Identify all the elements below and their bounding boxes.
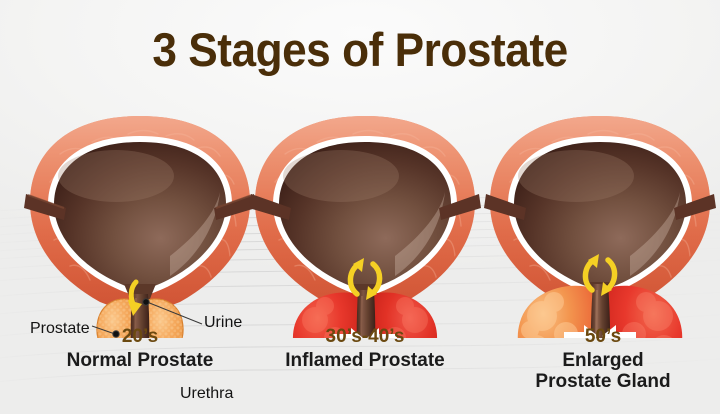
age-range-normal: 20’s: [15, 325, 265, 348]
prostate-diagram-enlarged: [480, 98, 720, 338]
age-range-inflamed: 30’s-40’s: [240, 325, 490, 348]
stage-label-inflamed: Inflamed Prostate: [240, 350, 490, 371]
bladder-inflamed: [249, 116, 481, 312]
stage-panel-enlarged: [480, 98, 720, 338]
stage-panel-inflamed: [245, 98, 485, 338]
annotation-urethra: Urethra: [180, 385, 233, 403]
age-range-enlarged: 50’s: [478, 325, 720, 348]
bladder-normal: [24, 116, 256, 312]
stage-panel-normal: Prostate Urine Urethra: [20, 98, 260, 338]
caption-inflamed: 30’s-40’s Inflamed Prostate: [240, 325, 490, 371]
caption-normal: 20’s Normal Prostate: [15, 325, 265, 371]
stage-label-enlarged-line1: Enlarged: [478, 350, 720, 371]
caption-enlarged: 50’s Enlarged Prostate Gland: [478, 325, 720, 392]
page-title: 3 Stages of Prostate: [22, 22, 699, 77]
stage-label-enlarged-line2: Prostate Gland: [478, 371, 720, 392]
prostate-diagram-normal: [20, 98, 260, 338]
stage-label-normal: Normal Prostate: [15, 350, 265, 371]
infographic-canvas: 3 Stages of Prostate: [0, 0, 720, 414]
prostate-diagram-inflamed: [245, 98, 485, 338]
